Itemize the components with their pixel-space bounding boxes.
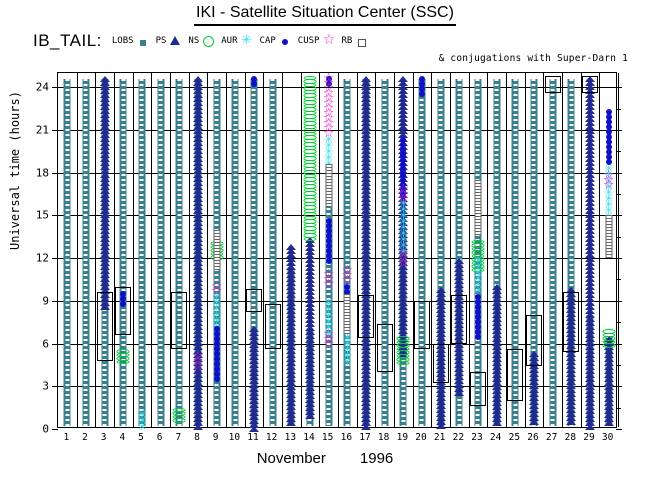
day-column	[562, 73, 581, 427]
triangle-icon	[529, 419, 539, 425]
cusp-marker-stack: ☆☆☆	[191, 354, 204, 369]
open-square-icon	[325, 203, 332, 207]
legend-item-cusp: CUSP☆	[298, 35, 335, 47]
page-title-text: IKI - Satellite Situation Center (SSC)	[194, 4, 456, 26]
asterisk-icon: ✳	[241, 35, 253, 47]
lobs-bar	[120, 79, 127, 426]
legend-label-aur: AUR	[221, 36, 237, 46]
x-tick-label: 13	[285, 432, 296, 443]
lobs-bar	[82, 79, 89, 426]
cusp-marker-stack: ☆☆☆	[322, 272, 335, 287]
filled-circle-icon	[475, 334, 481, 340]
x-axis-title: November1996	[0, 450, 650, 467]
filled-circle-icon	[419, 91, 425, 97]
filled-circle-icon	[251, 81, 257, 87]
y-tick-label: 3	[42, 380, 49, 393]
day-column	[301, 73, 320, 427]
day-column: ✳✳✳✳✳✳	[469, 73, 488, 427]
x-tick-label: 2	[82, 432, 88, 443]
rb-marker-stack	[605, 215, 612, 257]
star-icon: ☆	[322, 35, 334, 47]
filled-circle-icon	[214, 376, 220, 382]
legend-label-ps: PS	[156, 36, 167, 46]
day-column	[282, 73, 301, 427]
cusp-marker-stack: ☆☆☆	[322, 332, 335, 347]
rb-box	[97, 292, 113, 360]
ps-marker-stack	[249, 326, 259, 430]
rb-box	[451, 295, 467, 343]
x-tick-label: 9	[213, 432, 219, 443]
open-square-icon	[355, 35, 367, 47]
rb-marker-stack	[344, 294, 351, 333]
open-square-icon	[605, 254, 612, 258]
lobs-bar	[381, 79, 388, 426]
x-tick-label: 6	[157, 432, 163, 443]
y-tick-label: 21	[36, 123, 49, 136]
ps-marker-stack	[492, 284, 502, 424]
triangle-icon	[585, 424, 595, 430]
day-column	[170, 73, 189, 427]
filled-circle-icon	[606, 159, 612, 165]
day-column: ☆☆☆	[189, 73, 208, 427]
ps-marker-stack	[604, 336, 614, 424]
rb-marker-stack	[213, 230, 220, 269]
y-axis-title: Universal time (hours)	[8, 91, 22, 250]
day-column	[413, 73, 432, 427]
rb-marker-stack	[474, 180, 481, 234]
y-tick-label: 15	[36, 209, 49, 222]
x-tick-label: 3	[101, 432, 107, 443]
day-column	[506, 73, 525, 427]
x-axis-month: November	[257, 450, 326, 467]
cusp-marker-stack: ☆☆☆	[397, 251, 410, 266]
cusp-marker-stack: ☆☆☆	[602, 173, 615, 188]
day-column	[77, 73, 96, 427]
open-square-icon	[213, 266, 220, 270]
day-column	[450, 73, 469, 427]
day-column	[114, 73, 133, 427]
y-tick	[52, 429, 58, 430]
x-tick-label: 15	[322, 432, 333, 443]
triangle-icon	[436, 423, 446, 429]
x-tick-label: 4	[119, 432, 125, 443]
triangle-icon	[604, 420, 614, 426]
ps-marker-stack	[193, 76, 203, 428]
lobs-bar	[344, 79, 351, 426]
lobs-bar	[176, 79, 183, 426]
day-column	[151, 73, 170, 427]
lobs-bar	[138, 79, 145, 426]
aur-marker-stack: ✳✳✳✳✳✳	[343, 329, 352, 365]
x-tick-label: 29	[583, 432, 594, 443]
legend-label-ns: NS	[188, 36, 199, 46]
day-column	[245, 73, 264, 427]
x-tick-label: 30	[602, 432, 613, 443]
filled-square-icon	[137, 35, 149, 47]
circle-icon	[117, 360, 130, 365]
lobs-bar	[157, 79, 164, 426]
rb-box	[265, 304, 281, 350]
rb-marker-stack	[325, 164, 332, 206]
circle-icon	[202, 35, 214, 47]
rb-box	[171, 292, 187, 349]
x-axis-year: 1996	[360, 450, 393, 467]
x-tick-label: 12	[266, 432, 277, 443]
x-tick-label: 22	[453, 432, 464, 443]
day-column	[375, 73, 394, 427]
y-tick-label: 24	[36, 81, 49, 94]
legend-item-lobs: LOBS	[112, 35, 149, 47]
asterisk-icon: ✳	[137, 424, 146, 430]
aur-marker-stack: ✳✳✳✳✳✳	[473, 258, 482, 294]
x-tick-label: 11	[247, 432, 258, 443]
cusp-marker-stack: ☆☆☆☆☆☆☆☆☆☆☆☆	[322, 76, 335, 136]
x-tick-label: 7	[175, 432, 181, 443]
day-column	[357, 73, 376, 427]
circle-icon	[173, 418, 186, 423]
star-icon: ☆	[210, 289, 223, 294]
circle-icon	[303, 237, 316, 242]
ns-marker-stack	[173, 408, 186, 422]
open-square-icon	[474, 231, 481, 235]
star-icon: ☆	[322, 131, 335, 136]
day-column: ✳✳✳✳✳✳☆☆☆	[338, 73, 357, 427]
star-icon: ☆	[341, 278, 354, 283]
ps-marker-stack	[585, 76, 595, 428]
star-icon: ☆	[322, 282, 335, 287]
day-separator	[618, 73, 619, 427]
day-column	[525, 73, 544, 427]
rb-box	[358, 295, 374, 338]
aur-marker-stack: ✳✳✳✳✳✳	[212, 294, 221, 330]
cap-marker-stack	[606, 109, 612, 164]
triangle-icon	[492, 420, 502, 426]
triangle-icon	[169, 35, 181, 47]
cap-marker-stack	[251, 76, 257, 86]
legend-item-aur: AUR✳	[221, 35, 252, 47]
lobs-bar	[232, 79, 239, 426]
y-tick-label: 18	[36, 166, 49, 179]
aur-marker-stack: ✳✳✳	[137, 412, 146, 430]
ns-marker-stack	[117, 349, 130, 363]
x-tick-label: 18	[378, 432, 389, 443]
star-icon: ☆	[191, 364, 204, 369]
triangle-icon	[361, 424, 371, 430]
x-tick-label: 5	[138, 432, 144, 443]
rb-box	[545, 76, 561, 93]
triangle-icon	[193, 424, 203, 430]
day-column	[263, 73, 282, 427]
ps-marker-stack	[305, 237, 315, 417]
legend-item-rb: RB	[341, 35, 367, 47]
day-column: ✳✳✳✳✳✳☆☆	[207, 73, 226, 427]
x-tick-label: 1	[63, 432, 69, 443]
cap-marker-stack	[214, 326, 220, 381]
rb-box	[470, 372, 486, 406]
ns-marker-stack	[303, 76, 316, 241]
rb-box	[115, 287, 131, 335]
rb-box	[246, 289, 262, 312]
cusp-marker-stack: ☆☆	[210, 284, 223, 294]
star-icon: ☆	[397, 197, 410, 202]
x-tick-label: 28	[565, 432, 576, 443]
rb-box	[377, 324, 393, 372]
y-tick-label: 12	[36, 252, 49, 265]
triangle-icon	[566, 419, 576, 425]
triangle-icon	[286, 420, 296, 426]
lobs-bar	[549, 79, 556, 426]
triangle-icon	[454, 390, 464, 396]
y-tick-label: 9	[42, 294, 49, 307]
x-tick-label: 10	[229, 432, 240, 443]
x-tick-label: 23	[471, 432, 482, 443]
asterisk-icon: ✳	[343, 359, 352, 365]
y-tick-label: 6	[42, 337, 49, 350]
y-tick-label: 0	[42, 423, 49, 436]
day-column: ✳✳✳✳✳✳✳✳✳✳☆☆☆	[599, 73, 618, 427]
legend-group-label: IB_TAIL:	[33, 31, 102, 51]
rb-box	[433, 344, 449, 384]
legend-label-cap: CAP	[260, 36, 276, 46]
open-square-icon	[344, 330, 351, 334]
star-icon: ☆	[397, 261, 410, 266]
rb-box	[563, 292, 579, 352]
day-column	[543, 73, 562, 427]
legend-item-ns: NS	[188, 35, 214, 47]
rb-box	[526, 315, 542, 366]
x-tick-label: 17	[359, 432, 370, 443]
day-column: ✳✳✳	[133, 73, 152, 427]
legend-items: LOBSPSNSAUR✳CAPCUSP☆RB	[112, 35, 374, 47]
star-icon: ☆	[322, 342, 335, 347]
day-column: ✳✳✳✳✳✳✳✳✳☆☆☆☆☆☆	[394, 73, 413, 427]
circle-icon	[397, 361, 410, 366]
ssc-plot-page: IKI - Satellite Situation Center (SSC) I…	[0, 0, 650, 500]
cusp-marker-stack: ☆☆☆	[397, 187, 410, 202]
cap-marker-stack	[326, 218, 332, 263]
lobs-bar	[269, 79, 276, 426]
x-tick-label: 20	[415, 432, 426, 443]
star-icon: ☆	[602, 183, 615, 188]
legend-item-ps: PS	[156, 35, 182, 47]
filled-circle-icon	[279, 35, 291, 47]
x-tick-label: 14	[303, 432, 314, 443]
cap-marker-stack	[419, 76, 425, 96]
x-tick-label: 26	[527, 432, 538, 443]
x-tick-label: 19	[397, 432, 408, 443]
day-column	[58, 73, 77, 427]
x-tick-label: 25	[509, 432, 520, 443]
rb-box	[414, 301, 430, 349]
x-tick-label: 24	[490, 432, 501, 443]
day-column	[581, 73, 600, 427]
x-tick-label: 21	[434, 432, 445, 443]
ps-marker-stack	[286, 244, 296, 424]
rb-box	[507, 349, 523, 400]
cap-marker-stack	[475, 294, 481, 339]
ps-marker-stack	[100, 76, 110, 308]
filled-circle-icon	[326, 258, 332, 264]
day-column: ✳✳✳✳✳✳✳✳✳✳✳✳✳✳✳☆☆☆☆☆☆☆☆☆☆☆☆☆☆☆☆☆☆	[319, 73, 338, 427]
legend-label-cusp: CUSP	[298, 36, 320, 46]
triangle-icon	[305, 413, 315, 419]
ns-marker-stack	[397, 336, 410, 364]
plot-area: 03691215182124✳✳✳☆☆☆✳✳✳✳✳✳☆☆✳✳✳✳✳✳✳✳✳✳✳✳…	[57, 72, 617, 428]
legend-label-lobs: LOBS	[112, 36, 134, 46]
ns-marker-stack	[602, 329, 615, 347]
legend: IB_TAIL: LOBSPSNSAUR✳CAPCUSP☆RB	[33, 31, 374, 51]
legend-label-rb: RB	[341, 36, 352, 46]
conjugation-note: & conjugations with Super-Darn 1	[439, 53, 628, 64]
x-tick-label: 27	[546, 432, 557, 443]
cusp-marker-stack: ☆☆☆	[341, 268, 354, 283]
x-tick-label: 8	[194, 432, 200, 443]
legend-item-cap: CAP	[260, 35, 291, 47]
x-tick-label: 16	[341, 432, 352, 443]
day-column	[226, 73, 245, 427]
circle-icon	[602, 343, 615, 348]
day-column	[487, 73, 506, 427]
rb-box	[582, 76, 598, 93]
lobs-bar	[418, 79, 425, 426]
day-column	[95, 73, 114, 427]
day-column	[431, 73, 450, 427]
ps-marker-stack	[361, 76, 371, 428]
lobs-bar	[64, 79, 71, 426]
page-title: IKI - Satellite Situation Center (SSC)	[0, 4, 650, 26]
y-tick	[616, 429, 622, 430]
